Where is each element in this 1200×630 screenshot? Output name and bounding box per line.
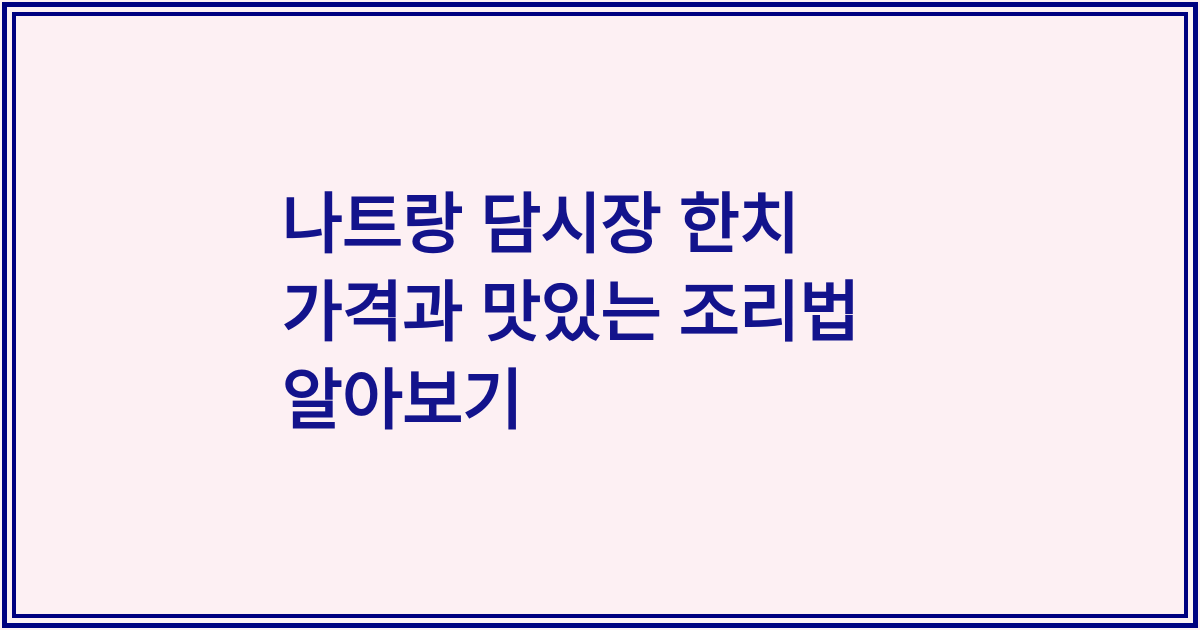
outer-border-frame: 나트랑 담시장 한치 가격과 맛있는 조리법 알아보기 — [2, 2, 1198, 628]
thumbnail-card: 나트랑 담시장 한치 가격과 맛있는 조리법 알아보기 — [0, 0, 1200, 630]
inner-border-frame: 나트랑 담시장 한치 가격과 맛있는 조리법 알아보기 — [12, 12, 1188, 618]
page-title: 나트랑 담시장 한치 가격과 맛있는 조리법 알아보기 — [282, 180, 1144, 444]
title-block: 나트랑 담시장 한치 가격과 맛있는 조리법 알아보기 — [16, 180, 1184, 450]
